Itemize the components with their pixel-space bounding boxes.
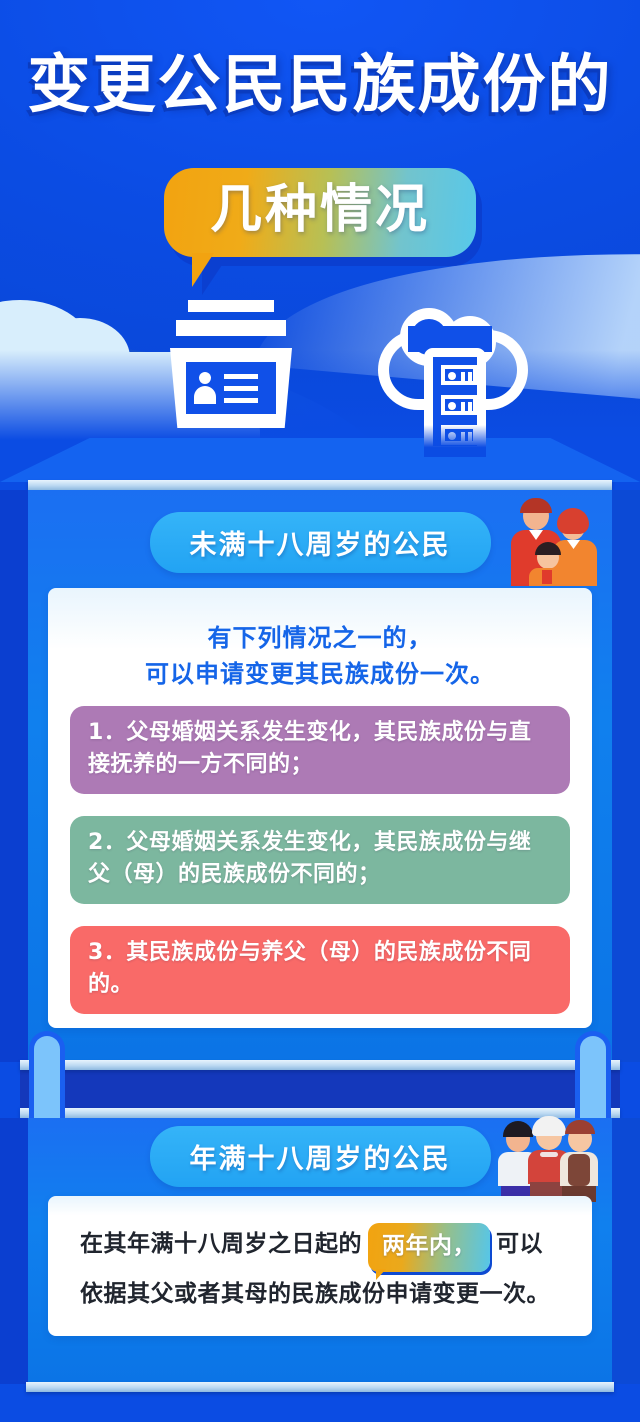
id-card-icon xyxy=(166,300,296,430)
page-title: 变更公民民族成份的 xyxy=(0,52,640,118)
list-item: 2．父母婚姻关系发生变化，其民族成份与继父（母）的民族成份不同的； xyxy=(70,816,570,904)
section-over-18-pill: 年满十八周岁的公民 xyxy=(150,1126,491,1187)
list-item-content-3: 其民族成份与养父（母）的民族成份不同的。 xyxy=(88,940,531,997)
over-18-content-card: 在其年满十八周岁之日起的两年内，可以 依据其父或者其母的民族成份申请变更一次。 xyxy=(48,1196,592,1336)
panel-b-bottom-bar xyxy=(26,1382,614,1392)
under-18-intro-line1: 有下列情况之一的， xyxy=(208,624,433,652)
list-item-number-1: 1． xyxy=(88,720,126,745)
over-18-body-line2: 依据其父或者其母的民族成份申请变更一次。 xyxy=(80,1281,550,1307)
panel-a-left-edge xyxy=(0,490,28,1062)
title-badge-wrapper: 几种情况 xyxy=(0,168,640,257)
cloud-server-icon xyxy=(378,330,528,455)
panel-divider-strip xyxy=(20,1070,620,1108)
panel-a-top-bevel xyxy=(0,438,640,482)
panel-a-top-bar xyxy=(28,480,612,490)
list-item-text-2: 2．父母婚姻关系发生变化，其民族成份与继父（母）的民族成份不同的； xyxy=(88,827,552,891)
over-18-highlight-badge: 两年内， xyxy=(368,1223,490,1272)
list-item-content-2: 父母婚姻关系发生变化，其民族成份与继父（母）的民族成份不同的； xyxy=(88,830,531,887)
title-badge-label: 几种情况 xyxy=(210,182,430,239)
over-18-body-before: 在其年满十八周岁之日起的 xyxy=(80,1231,362,1257)
title-badge: 几种情况 xyxy=(164,168,476,257)
young-man-with-elderly-couple-icon xyxy=(498,1112,598,1202)
under-18-intro: 有下列情况之一的， 可以申请变更其民族成份一次。 xyxy=(48,620,592,692)
panel-a-right-edge xyxy=(612,490,640,1062)
under-18-intro-line2: 可以申请变更其民族成份一次。 xyxy=(145,660,495,688)
list-item: 1．父母婚姻关系发生变化，其民族成份与直接抚养的一方不同的； xyxy=(70,706,570,794)
list-item-content-1: 父母婚姻关系发生变化，其民族成份与直接抚养的一方不同的； xyxy=(88,720,531,777)
list-item-number-2: 2． xyxy=(88,830,126,855)
panel-divider-bar-top xyxy=(20,1060,620,1070)
over-18-body: 在其年满十八周岁之日起的两年内，可以 依据其父或者其母的民族成份申请变更一次。 xyxy=(80,1222,560,1317)
list-item-number-3: 3． xyxy=(88,940,126,965)
list-item: 3．其民族成份与养父（母）的民族成份不同的。 xyxy=(70,926,570,1014)
family-of-three-icon xyxy=(505,496,605,586)
title-badge-tail xyxy=(192,253,214,287)
section-under-18-pill: 未满十八周岁的公民 xyxy=(150,512,491,573)
list-item-text-1: 1．父母婚姻关系发生变化，其民族成份与直接抚养的一方不同的； xyxy=(88,717,552,781)
over-18-body-after: 可以 xyxy=(496,1231,543,1257)
list-item-text-3: 3．其民族成份与养父（母）的民族成份不同的。 xyxy=(88,937,552,1001)
under-18-content-card: 有下列情况之一的， 可以申请变更其民族成份一次。 1．父母婚姻关系发生变化，其民… xyxy=(48,588,592,1028)
